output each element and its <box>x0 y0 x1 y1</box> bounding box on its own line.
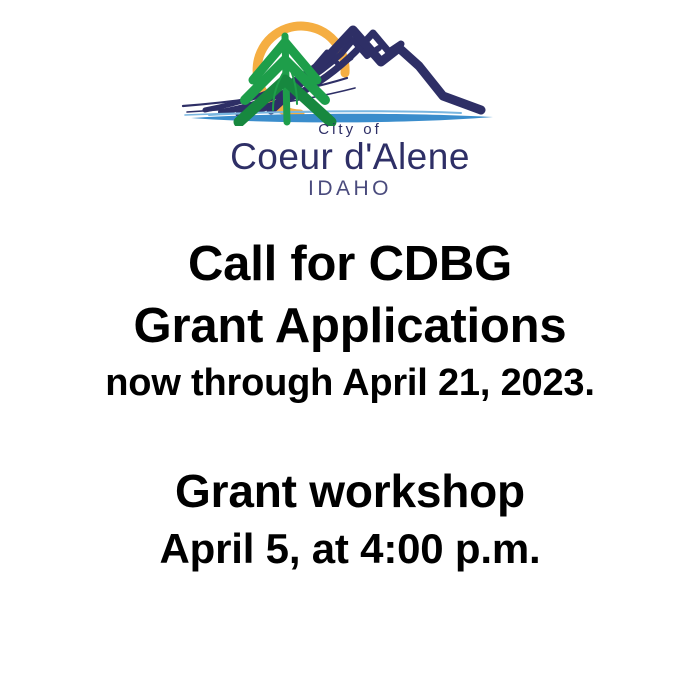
poster-canvas: City of Coeur d'Alene IDAHO Call for CDB… <box>0 0 700 700</box>
workshop-datetime-line: April 5, at 4:00 p.m. <box>0 521 700 577</box>
logo-city-name-label: Coeur d'Alene <box>170 138 530 176</box>
headline-line-1: Call for CDBG <box>0 233 700 295</box>
application-period-line: now through April 21, 2023. <box>0 357 700 409</box>
city-logo-mark <box>175 18 525 126</box>
logo-state-label: IDAHO <box>170 178 530 199</box>
announcement-text: Call for CDBG Grant Applications now thr… <box>0 233 700 577</box>
workshop-heading-line: Grant workshop <box>0 461 700 521</box>
section-spacer <box>0 409 700 461</box>
city-logo-wordmark: City of Coeur d'Alene IDAHO <box>170 122 530 199</box>
headline-line-2: Grant Applications <box>0 295 700 357</box>
logo-city-of-label: City of <box>170 122 530 137</box>
city-logo: City of Coeur d'Alene IDAHO <box>170 18 530 199</box>
evergreen-tree-icon <box>239 36 331 122</box>
